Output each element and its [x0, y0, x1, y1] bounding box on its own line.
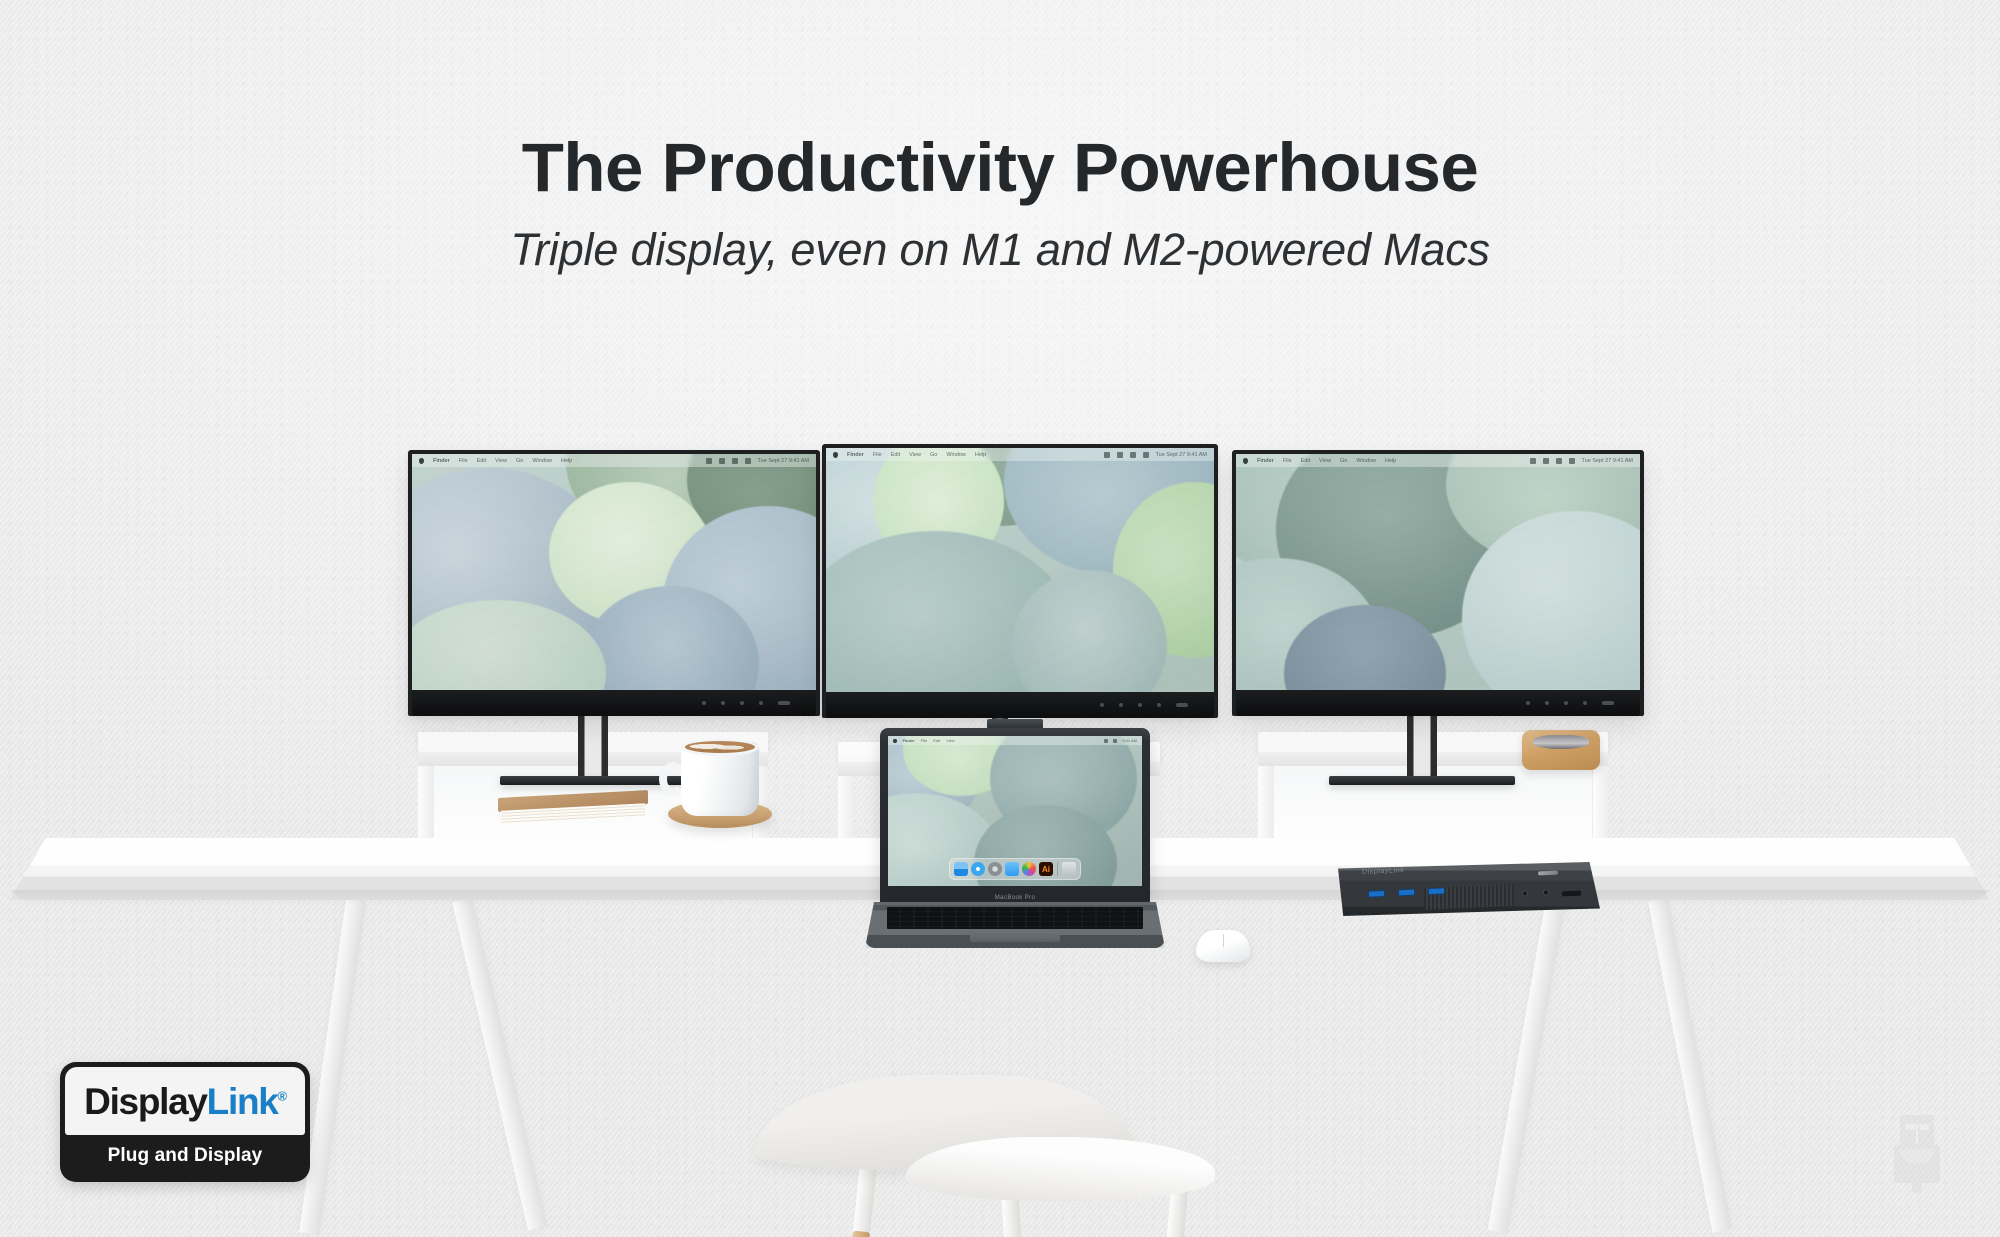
usb-a-port-icon[interactable]: [1398, 889, 1415, 897]
logo-wordmark: DisplayLink®: [84, 1083, 286, 1120]
menu-item-view[interactable]: View: [909, 452, 921, 458]
menubar-left-items: Finder File Edit View Go Window Help: [419, 458, 697, 464]
laptop-screen[interactable]: Finder File Edit View 9:41 AM: [888, 736, 1142, 886]
wifi-icon[interactable]: [706, 458, 712, 464]
logo-tagline: Plug and Display: [108, 1145, 263, 1167]
battery-icon[interactable]: [1117, 452, 1123, 458]
monitor-bezel: Finder File Edit View Go Window Help Tue…: [822, 444, 1218, 718]
search-icon[interactable]: [1569, 458, 1575, 464]
usb-a-port-icon[interactable]: [1428, 887, 1445, 895]
laptop-menubar[interactable]: Finder File Edit View 9:41 AM: [888, 736, 1142, 745]
monitor-chin: [412, 690, 816, 716]
macos-dock[interactable]: Ai: [949, 858, 1081, 880]
wallpaper: [826, 448, 1214, 692]
monitor-chin: [826, 692, 1214, 718]
menu-item-file[interactable]: File: [921, 738, 927, 743]
menubar-clock[interactable]: Tue Sept 27 9:41 AM: [1582, 458, 1633, 464]
menu-item-finder[interactable]: Finder: [1257, 458, 1274, 464]
desk-leg-left-a: [299, 899, 366, 1236]
monitor-screen[interactable]: Finder File Edit View Go Window Help Tue…: [826, 448, 1214, 692]
registered-trademark-icon: ®: [278, 1088, 286, 1103]
sd-card-slot-icon[interactable]: [1562, 891, 1581, 897]
laptop-keyboard[interactable]: [887, 907, 1143, 929]
monitor-button-icon[interactable]: [1545, 701, 1549, 705]
wifi-icon[interactable]: [1104, 739, 1108, 743]
monitor-bezel: Finder File Edit View Go Window Help Tue…: [408, 450, 820, 716]
laptop-lid: Finder File Edit View 9:41 AM: [880, 728, 1150, 903]
dock-audio-jacks: [1522, 889, 1549, 896]
page-title: The Productivity Powerhouse: [0, 132, 2000, 204]
menubar-clock[interactable]: Tue Sept 27 9:41 AM: [1156, 452, 1207, 458]
menu-item-edit[interactable]: Edit: [891, 452, 900, 458]
monitor-stand-neck-left: [578, 705, 608, 783]
monitor-chin: [1236, 690, 1640, 716]
cappuccino-foam: [685, 741, 755, 753]
menu-item-file[interactable]: File: [1283, 458, 1292, 464]
menu-item-help[interactable]: Help: [975, 452, 986, 458]
monitor-button-icon[interactable]: [1100, 703, 1104, 707]
menu-item-edit[interactable]: Edit: [1301, 458, 1310, 464]
monitor-power-icon[interactable]: [1176, 703, 1188, 707]
laptop-model-label: MacBook Pro: [880, 895, 1150, 901]
menu-item-view[interactable]: View: [1319, 458, 1331, 464]
illustrator-icon[interactable]: Ai: [1039, 862, 1053, 876]
monitor-button-icon[interactable]: [721, 701, 725, 705]
desk-leg-right-a: [1488, 898, 1566, 1233]
wallpaper: [412, 454, 816, 690]
menu-item-go[interactable]: Go: [516, 458, 523, 464]
menu-item-go[interactable]: Go: [1340, 458, 1347, 464]
menu-item-file[interactable]: File: [873, 452, 882, 458]
logo-word-display: Display: [84, 1081, 207, 1122]
apple-logo-icon[interactable]: [893, 739, 897, 743]
macos-menubar[interactable]: Finder File Edit View Go Window Help Tue…: [826, 448, 1214, 461]
monitor-screen[interactable]: Finder File Edit View Go Window Help Tue…: [1236, 454, 1640, 690]
logo-tagline-panel: Plug and Display: [65, 1135, 305, 1177]
monitor-button-icon[interactable]: [759, 701, 763, 705]
menubar-status-items: Tue Sept 27 9:41 AM: [706, 458, 809, 464]
menubar-left-items: Finder File Edit View: [893, 738, 1098, 743]
headline-block: The Productivity Powerhouse Triple displ…: [0, 132, 2000, 276]
monitor-stand-neck-right: [1407, 705, 1437, 783]
wooden-tray: [1522, 730, 1600, 770]
macos-menubar[interactable]: Finder File Edit View Go Window Help Tue…: [1236, 454, 1640, 467]
monitor-button-icon[interactable]: [1138, 703, 1142, 707]
menu-item-window[interactable]: Window: [532, 458, 552, 464]
menu-item-view[interactable]: View: [495, 458, 507, 464]
monitor-screen[interactable]: Finder File Edit View Go Window Help Tue…: [412, 454, 816, 690]
product-hero-scene: The Productivity Powerhouse Triple displ…: [0, 0, 2000, 1237]
menubar-clock[interactable]: 9:41 AM: [1122, 738, 1137, 743]
macos-menubar[interactable]: Finder File Edit View Go Window Help Tue…: [412, 454, 816, 467]
logo-wordmark-panel: DisplayLink®: [65, 1067, 305, 1135]
menu-item-window[interactable]: Window: [1356, 458, 1376, 464]
monitor-button-icon[interactable]: [1157, 703, 1161, 707]
logo-word-link: Link: [207, 1081, 278, 1122]
menubar-left-items: Finder File Edit View Go Window Help: [1243, 458, 1521, 464]
menu-item-file[interactable]: File: [459, 458, 468, 464]
displaylink-logo: DisplayLink® Plug and Display: [60, 1062, 310, 1182]
page-subtitle: Triple display, even on M1 and M2-powere…: [0, 224, 2000, 276]
control-center-icon[interactable]: [732, 458, 738, 464]
monitor-power-icon[interactable]: [778, 701, 790, 705]
menu-item-help[interactable]: Help: [561, 458, 572, 464]
menu-item-view[interactable]: View: [946, 738, 955, 743]
photos-icon[interactable]: [1022, 862, 1036, 876]
wallpaper: [1236, 454, 1640, 690]
menu-item-window[interactable]: Window: [946, 452, 966, 458]
menu-item-finder[interactable]: Finder: [847, 452, 864, 458]
menubar-left-items: Finder File Edit View Go Window Help: [833, 452, 1095, 458]
search-icon[interactable]: [745, 458, 751, 464]
control-center-icon[interactable]: [1556, 458, 1562, 464]
desk-leg-right-b: [1648, 898, 1732, 1233]
monitor-button-icon[interactable]: [1526, 701, 1530, 705]
monitor-bezel: Finder File Edit View Go Window Help Tue…: [1232, 450, 1644, 716]
monitor-stand-base-right: [1329, 776, 1515, 785]
system-settings-icon[interactable]: [988, 862, 1002, 876]
battery-icon[interactable]: [719, 458, 725, 464]
usb-a-port-icon[interactable]: [1368, 890, 1385, 898]
mouse-seam: [1223, 934, 1224, 947]
search-icon[interactable]: [1143, 452, 1149, 458]
mail-icon[interactable]: [1005, 862, 1019, 876]
safari-icon[interactable]: [971, 862, 985, 876]
menubar-status-items: 9:41 AM: [1104, 738, 1137, 743]
chair-leg-wood: [845, 1230, 870, 1237]
finder-icon[interactable]: [954, 862, 968, 876]
menu-item-edit[interactable]: Edit: [477, 458, 486, 464]
apple-logo-icon[interactable]: [1243, 458, 1248, 464]
microphone-jack-icon[interactable]: [1543, 889, 1549, 895]
battery-icon[interactable]: [1543, 458, 1549, 464]
monitor-button-icon[interactable]: [1564, 701, 1568, 705]
laptop-base: [865, 902, 1165, 948]
wooden-tray-items: [1533, 735, 1589, 749]
monitor-power-icon[interactable]: [1602, 701, 1614, 705]
monitor-button-icon[interactable]: [1583, 701, 1587, 705]
magic-mouse[interactable]: [1196, 930, 1250, 962]
menu-item-edit[interactable]: Edit: [933, 738, 940, 743]
right-monitor: Finder File Edit View Go Window Help Tue…: [1232, 450, 1644, 716]
usb-c-docking-station[interactable]: DisplayLink: [1338, 862, 1600, 916]
menu-item-finder[interactable]: Finder: [433, 458, 450, 464]
control-center-icon[interactable]: [1130, 452, 1136, 458]
wifi-icon[interactable]: [1104, 452, 1110, 458]
monitor-button-icon[interactable]: [702, 701, 706, 705]
dock-separator: [1057, 862, 1058, 876]
center-monitor: Finder File Edit View Go Window Help Tue…: [822, 444, 1218, 718]
menubar-status-items: Tue Sept 27 9:41 AM: [1530, 458, 1633, 464]
desk-leg-left-b: [452, 898, 547, 1231]
apple-logo-icon[interactable]: [419, 458, 424, 464]
menu-item-help[interactable]: Help: [1385, 458, 1396, 464]
menubar-status-items: Tue Sept 27 9:41 AM: [1104, 452, 1207, 458]
monitor-button-icon[interactable]: [1119, 703, 1123, 707]
chair-seat: [905, 1137, 1215, 1201]
trash-icon[interactable]: [1062, 862, 1076, 876]
menu-item-finder[interactable]: Finder: [903, 738, 915, 743]
menu-item-go[interactable]: Go: [930, 452, 937, 458]
wifi-icon[interactable]: [1530, 458, 1536, 464]
menubar-clock[interactable]: Tue Sept 27 9:41 AM: [758, 458, 809, 464]
usb-connector-icon: [1886, 1115, 1948, 1193]
monitor-button-icon[interactable]: [740, 701, 744, 705]
laptop-trackpad[interactable]: [970, 931, 1060, 942]
headphone-jack-icon[interactable]: [1522, 890, 1528, 896]
left-monitor: Finder File Edit View Go Window Help Tue…: [408, 450, 820, 716]
apple-logo-icon[interactable]: [833, 452, 838, 458]
battery-icon[interactable]: [1113, 739, 1117, 743]
